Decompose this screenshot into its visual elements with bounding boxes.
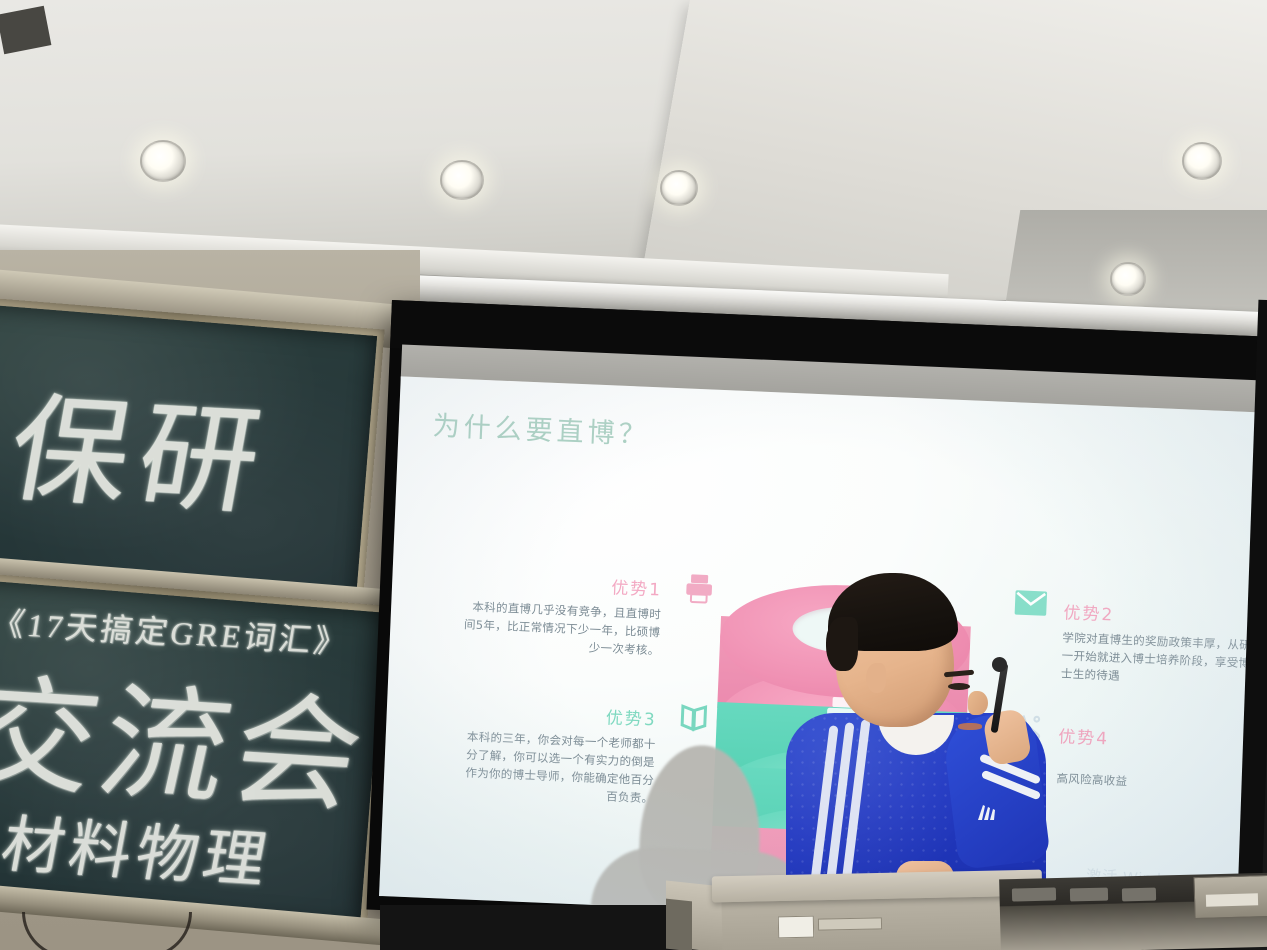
chalk-text-gre-book: 《17天搞定GRE词汇》 bbox=[0, 598, 353, 663]
jacket-logo-icon bbox=[976, 803, 998, 821]
presenter-ear bbox=[866, 663, 886, 693]
ceiling-downlight-icon bbox=[1110, 262, 1146, 296]
ceiling-downlight-icon bbox=[140, 140, 186, 182]
desk-slot bbox=[1122, 888, 1156, 902]
lectern-side-shadow bbox=[666, 899, 692, 950]
desk-slot bbox=[1070, 888, 1108, 902]
classroom-photo-scene: 保研 《17天搞定GRE词汇》 交流会 材料物理 为什么要直博？ bbox=[0, 0, 1267, 950]
presenter-eye bbox=[948, 683, 970, 690]
presenter-eyebrow bbox=[944, 670, 974, 678]
blackboard-panel-lower: 《17天搞定GRE词汇》 交流会 材料物理 bbox=[0, 572, 393, 935]
desk-slot bbox=[1012, 887, 1056, 901]
advantage-4-heading: 优势4 bbox=[1058, 722, 1259, 755]
advantage-4-body: 高风险高收益 bbox=[1056, 769, 1257, 796]
ceiling-downlight-icon bbox=[440, 160, 484, 200]
presenter-raised-hand bbox=[982, 708, 1032, 767]
floor-shadow bbox=[380, 905, 680, 950]
advantage-3-body: 本科的三年，你会对每一个老师都十分了解，你可以选一个有实力的倒是作为你的博士导师… bbox=[453, 727, 656, 808]
ceiling-downlight-icon bbox=[660, 170, 698, 206]
open-book-icon bbox=[676, 700, 711, 735]
presenter bbox=[800, 565, 1040, 905]
lectern-label-strip bbox=[818, 917, 882, 930]
advantage-block-2: 优势2 学院对直博生的奖励政策丰厚，从研一开始就进入博士培养阶段，享受博士生的待… bbox=[1061, 598, 1262, 691]
printer-icon bbox=[682, 570, 717, 605]
slide-title: 为什么要直博？ bbox=[432, 404, 650, 452]
presenter-hair-side bbox=[826, 617, 858, 671]
advantage-2-heading: 优势2 bbox=[1063, 598, 1262, 631]
presenter-mouth bbox=[958, 723, 982, 730]
blackboard-surface: 《17天搞定GRE词汇》 交流会 材料物理 bbox=[0, 580, 385, 928]
advantage-block-3: 优势3 本科的三年，你会对每一个老师都十分了解，你可以选一个有实力的倒是作为你的… bbox=[453, 697, 657, 808]
ceiling-corner-shadow bbox=[0, 6, 51, 54]
advantage-1-heading: 优势1 bbox=[462, 567, 663, 600]
hanging-cable bbox=[22, 912, 192, 950]
lectern-label bbox=[778, 916, 814, 939]
presenter-nose bbox=[968, 691, 988, 715]
chalk-text-baoyan: 保研 bbox=[0, 354, 285, 537]
advantage-block-4: 优势4 高风险高收益 bbox=[1056, 722, 1259, 795]
advantage-1-body: 本科的直博几乎没有竞争，且直博时间5年，比正常情况下少一年，比硕博少一次考核。 bbox=[459, 597, 661, 660]
ceiling-downlight-icon bbox=[1182, 142, 1222, 180]
advantage-2-body: 学院对直博生的奖励政策丰厚，从研一开始就进入博士培养阶段，享受博士生的待遇 bbox=[1061, 628, 1262, 691]
advantage-block-1: 优势1 本科的直博几乎没有竞争，且直博时间5年，比正常情况下少一年，比硕博少一次… bbox=[459, 567, 662, 660]
chalk-text-cailiaowuli: 材料物理 bbox=[0, 794, 280, 900]
advantage-3-heading: 优势3 bbox=[456, 697, 657, 730]
equipment-panel-strip bbox=[1206, 893, 1258, 906]
chalk-text-jiaoliuhui: 交流会 bbox=[0, 633, 385, 836]
